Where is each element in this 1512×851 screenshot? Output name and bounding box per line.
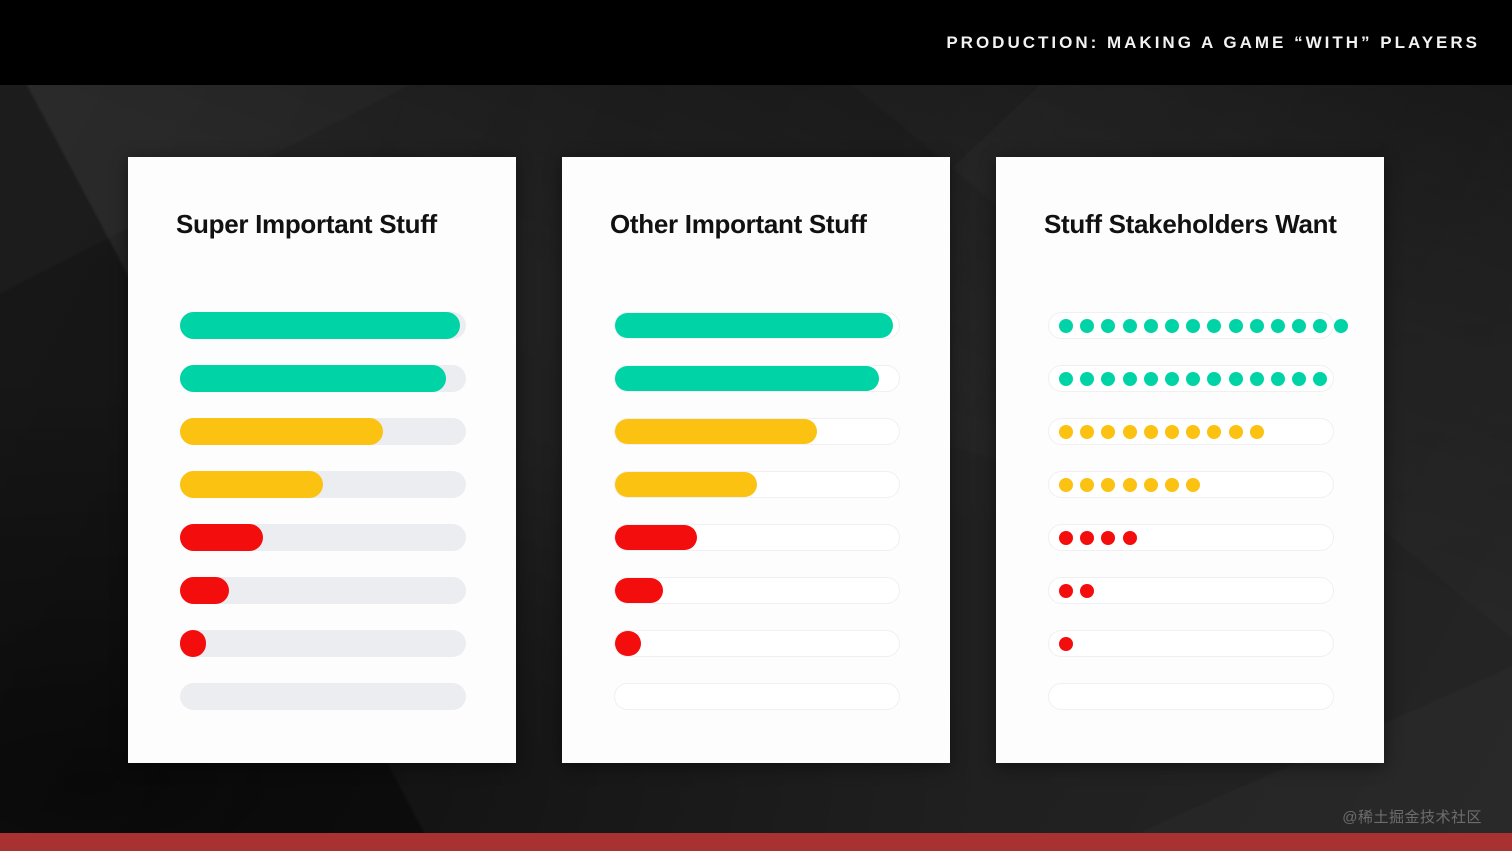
progress-track[interactable] [614,524,900,551]
progress-fill [180,577,229,604]
progress-fill [180,418,383,445]
status-dot [1186,478,1200,492]
dot-row[interactable] [1048,577,1334,604]
status-dot [1165,372,1179,386]
status-dot [1165,478,1179,492]
status-dot [1080,319,1094,333]
progress-fill [180,471,323,498]
card-title: Other Important Stuff [562,209,950,240]
progress-track[interactable] [614,471,900,498]
status-dot [1271,372,1285,386]
status-dot [1123,478,1137,492]
status-dot [1123,531,1137,545]
progress-track[interactable] [180,312,466,339]
progress-track[interactable] [180,524,466,551]
status-dot [1101,478,1115,492]
card-title: Super Important Stuff [128,209,516,240]
status-dot [1334,319,1348,333]
status-dot [1229,425,1243,439]
progress-fill [180,524,263,551]
progress-fill [180,365,446,392]
progress-fill [615,313,893,338]
status-dot [1271,319,1285,333]
status-dot [1144,319,1158,333]
status-dot [1229,372,1243,386]
dot-row[interactable] [1048,524,1334,551]
status-dot [1059,425,1073,439]
status-dot [1059,637,1073,651]
progress-fill [180,630,206,657]
progress-track[interactable] [180,577,466,604]
dot-row[interactable] [1048,630,1334,657]
status-dot [1101,372,1115,386]
slide-canvas: PRODUCTION: MAKING A GAME “WITH” PLAYERS… [0,0,1512,851]
status-dot [1207,425,1221,439]
status-dot [1059,478,1073,492]
progress-fill [615,366,879,391]
card-1: Super Important Stuff [128,157,516,763]
status-dot [1186,372,1200,386]
status-dot [1080,372,1094,386]
progress-fill [615,631,641,656]
progress-track[interactable] [614,312,900,339]
progress-fill [180,312,460,339]
progress-track[interactable] [614,577,900,604]
status-dot [1292,372,1306,386]
status-dot [1186,319,1200,333]
bottom-accent-bar [0,833,1512,851]
card-rows [562,312,950,710]
slide-header: PRODUCTION: MAKING A GAME “WITH” PLAYERS [0,0,1512,85]
status-dot [1101,319,1115,333]
card-rows [996,312,1384,710]
progress-fill [615,525,697,550]
dot-row[interactable] [1048,365,1334,392]
status-dot [1229,319,1243,333]
status-dot [1123,425,1137,439]
status-dot [1059,584,1073,598]
progress-fill [615,472,757,497]
card-2: Other Important Stuff [562,157,950,763]
progress-track[interactable] [180,418,466,445]
card-title: Stuff Stakeholders Want [996,209,1384,240]
status-dot [1292,319,1306,333]
header-title: PRODUCTION: MAKING A GAME “WITH” PLAYERS [946,33,1480,53]
status-dot [1080,584,1094,598]
progress-fill [615,578,663,603]
status-dot [1313,372,1327,386]
watermark: @稀土掘金技术社区 [1342,806,1482,827]
dot-row[interactable] [1048,471,1334,498]
dot-row[interactable] [1048,312,1334,339]
progress-track[interactable] [614,683,900,710]
progress-track[interactable] [180,630,466,657]
card-rows [128,312,516,710]
status-dot [1101,425,1115,439]
progress-track[interactable] [614,630,900,657]
card-row: Super Important StuffOther Important Stu… [0,157,1512,763]
status-dot [1207,372,1221,386]
progress-track[interactable] [180,471,466,498]
status-dot [1144,478,1158,492]
status-dot [1250,372,1264,386]
status-dot [1123,372,1137,386]
progress-track[interactable] [614,365,900,392]
progress-track[interactable] [614,418,900,445]
progress-track[interactable] [180,683,466,710]
status-dot [1186,425,1200,439]
status-dot [1313,319,1327,333]
status-dot [1080,531,1094,545]
dot-row[interactable] [1048,418,1334,445]
status-dot [1101,531,1115,545]
status-dot [1144,425,1158,439]
status-dot [1080,478,1094,492]
status-dot [1144,372,1158,386]
status-dot [1059,531,1073,545]
progress-fill [615,419,817,444]
dot-row[interactable] [1048,683,1334,710]
status-dot [1059,319,1073,333]
status-dot [1123,319,1137,333]
progress-track[interactable] [180,365,466,392]
status-dot [1207,319,1221,333]
card-3: Stuff Stakeholders Want [996,157,1384,763]
status-dot [1059,372,1073,386]
status-dot [1080,425,1094,439]
status-dot [1165,425,1179,439]
status-dot [1165,319,1179,333]
status-dot [1250,319,1264,333]
status-dot [1250,425,1264,439]
